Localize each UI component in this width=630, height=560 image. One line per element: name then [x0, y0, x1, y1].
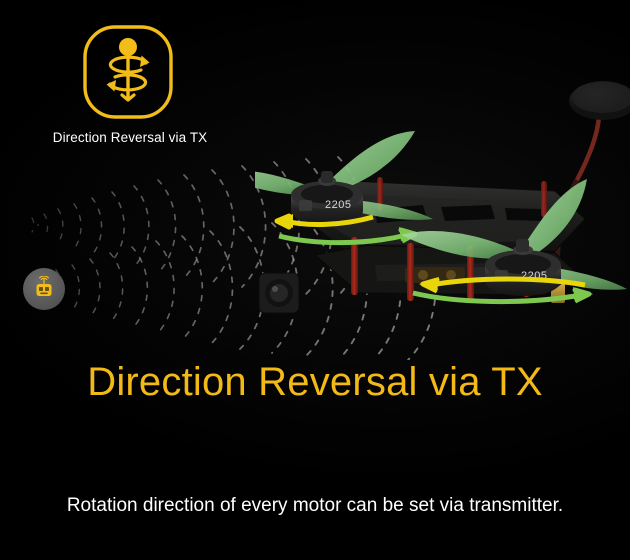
feature-badge: Direction Reversal via TX: [30, 22, 230, 145]
rotation-reversal-icon: [78, 22, 178, 122]
promo-banner: 2205: [0, 0, 630, 560]
badge-caption: Direction Reversal via TX: [30, 130, 230, 145]
fpv-camera: [259, 273, 299, 313]
transmitter-badge: [23, 268, 65, 310]
rc-transmitter-icon: [31, 276, 57, 302]
quadcopter: 2205: [255, 5, 630, 350]
motor-label-front: 2205: [325, 199, 351, 211]
description-block: Rotation direction of every motor can be…: [0, 428, 630, 560]
page-title: Direction Reversal via TX: [0, 362, 630, 402]
description-line-1: Rotation direction of every motor can be…: [0, 490, 630, 521]
badge-icon-wrap: [78, 22, 178, 122]
